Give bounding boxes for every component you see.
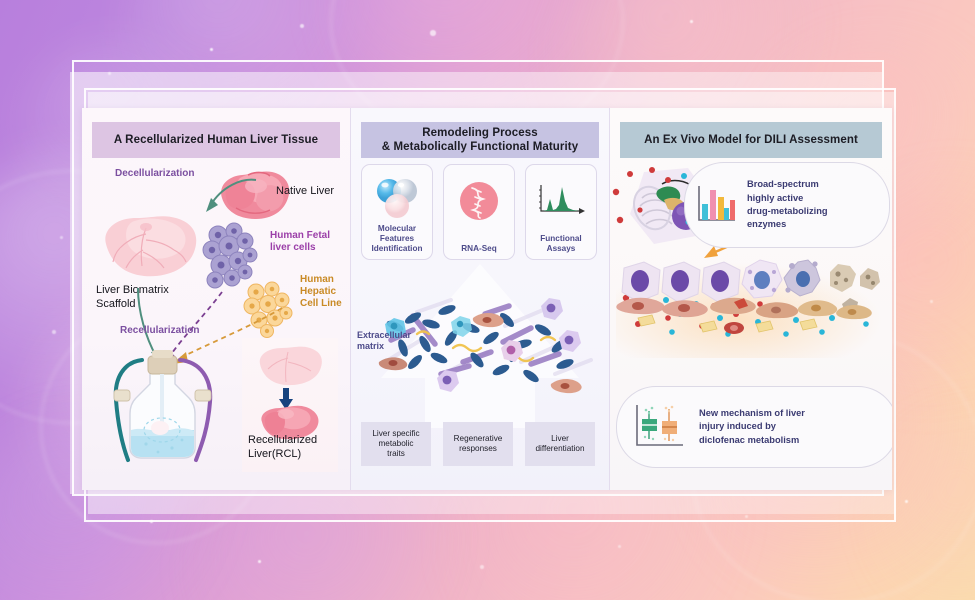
label-recellularized-liver: Recellularized Liver(RCL): [248, 434, 317, 462]
panel-remodeling-process: Remodeling Process & Metabolically Funct…: [350, 108, 610, 490]
panel-3-title: An Ex Vivo Model for DILI Assessment: [644, 133, 858, 147]
recellularized-liver-result: Recellularized Liver(RCL): [242, 338, 338, 472]
panel-2-header: Remodeling Process & Metabolically Funct…: [361, 122, 599, 158]
box-plot-icon: [631, 401, 687, 453]
panel-1-title: A Recellularized Human Liver Tissue: [114, 133, 318, 147]
label-recellularization: Recellularization: [120, 325, 199, 337]
callout-enzymes-text: Broad-spectrum highly active drug-metabo…: [747, 178, 828, 232]
panel-1-body: Native Liver Decellularization: [82, 158, 350, 480]
abstract-card: A Recellularized Human Liver Tissue Nati…: [82, 108, 892, 490]
label-decellularization: Decellularization: [115, 168, 194, 180]
label-human-fetal-liver-cells: Human Fetal liver cells: [270, 230, 330, 254]
peak-plot-icon: [535, 179, 587, 221]
panel-3-body: Broad-spectrum highly active drug-metabo…: [610, 158, 892, 480]
rna-helix-icon: [456, 179, 502, 225]
liver-biomatrix-scaffold-illustration: [96, 210, 206, 284]
panel-recellularized-liver-tissue: A Recellularized Human Liver Tissue Nati…: [82, 108, 350, 490]
box-molecular-features-identification[interactable]: Molecular Features Identification: [361, 164, 433, 260]
label-extracellular-matrix: Extracellular matrix: [357, 330, 411, 352]
panel-ex-vivo-dili-model: An Ex Vivo Model for DILI Assessment: [610, 108, 892, 490]
callout-mechanism-text: New mechanism of liver injury induced by…: [699, 407, 805, 447]
panel-2-body: Molecular Features Identification RNA-Se…: [351, 158, 609, 480]
box-regenerative-responses[interactable]: Regenerative responses: [443, 422, 513, 466]
hepatocyte-degradation-sequence: [616, 254, 888, 338]
box-liver-specific-metabolic-traits[interactable]: Liver specific metabolic traits: [361, 422, 431, 466]
rcl-illustration: [252, 342, 328, 438]
decellularization-arrow: [200, 174, 260, 218]
bar-chart-icon: [693, 182, 739, 228]
panel-2-title: Remodeling Process & Metabolically Funct…: [382, 126, 578, 155]
caption-rna-seq: RNA-Seq: [444, 244, 514, 254]
box-rna-seq[interactable]: RNA-Seq: [443, 164, 515, 260]
caption-functional-assays: Functional Assays: [526, 234, 596, 254]
box-functional-assays[interactable]: Functional Assays: [525, 164, 597, 260]
venn-spheres-icon: [372, 176, 422, 222]
label-native-liver: Native Liver: [276, 185, 334, 198]
caption-molecular-features-identification: Molecular Features Identification: [362, 224, 432, 254]
panel-3-header: An Ex Vivo Model for DILI Assessment: [620, 122, 882, 158]
bioreactor-illustration: [102, 344, 238, 472]
callout-diclofenac-mechanism[interactable]: New mechanism of liver injury induced by…: [616, 386, 892, 468]
panel-1-header: A Recellularized Human Liver Tissue: [92, 122, 340, 158]
box-liver-differentiation[interactable]: Liver differentiation: [525, 422, 595, 466]
callout-drug-metabolizing-enzymes[interactable]: Broad-spectrum highly active drug-metabo…: [684, 162, 890, 248]
